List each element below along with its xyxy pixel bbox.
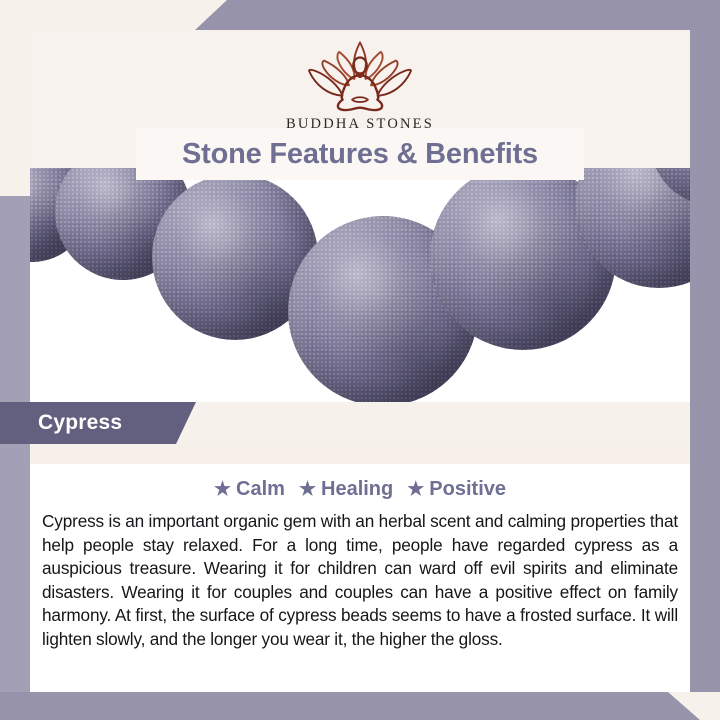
accent-bar-bottom [0,692,700,720]
accent-bar-top-right [195,0,720,30]
star-icon: ★ [407,480,424,499]
accent-bar-left [0,196,30,720]
infographic-page: BUDDHA STONES Stone Features & Benefits … [0,0,720,720]
benefit-item-positive: ★ Positive [407,478,506,501]
section-banner-cypress: Cypress [0,402,196,444]
page-title: Stone Features & Benefits [182,138,538,171]
star-icon: ★ [214,480,231,499]
accent-bar-right-inner [690,30,720,692]
benefit-label: Calm [236,478,285,501]
benefit-item-healing: ★ Healing [299,478,393,501]
page-title-plaque: Stone Features & Benefits [136,128,584,180]
product-photo [30,168,690,402]
star-icon: ★ [299,480,316,499]
description-panel: ★ Calm ★ Healing ★ Positive Cypress is a… [30,464,690,692]
section-banner-label: Cypress [38,411,122,435]
benefit-label: Healing [321,478,393,501]
benefits-list: ★ Calm ★ Healing ★ Positive [38,478,682,501]
divider-strip [30,444,690,464]
description-text: Cypress is an important organic gem with… [38,510,682,652]
brand-logo: BUDDHA STONES [30,36,690,133]
lotus-meditation-figure-icon [280,36,440,114]
benefit-label: Positive [429,478,506,501]
benefit-item-calm: ★ Calm [214,478,285,501]
